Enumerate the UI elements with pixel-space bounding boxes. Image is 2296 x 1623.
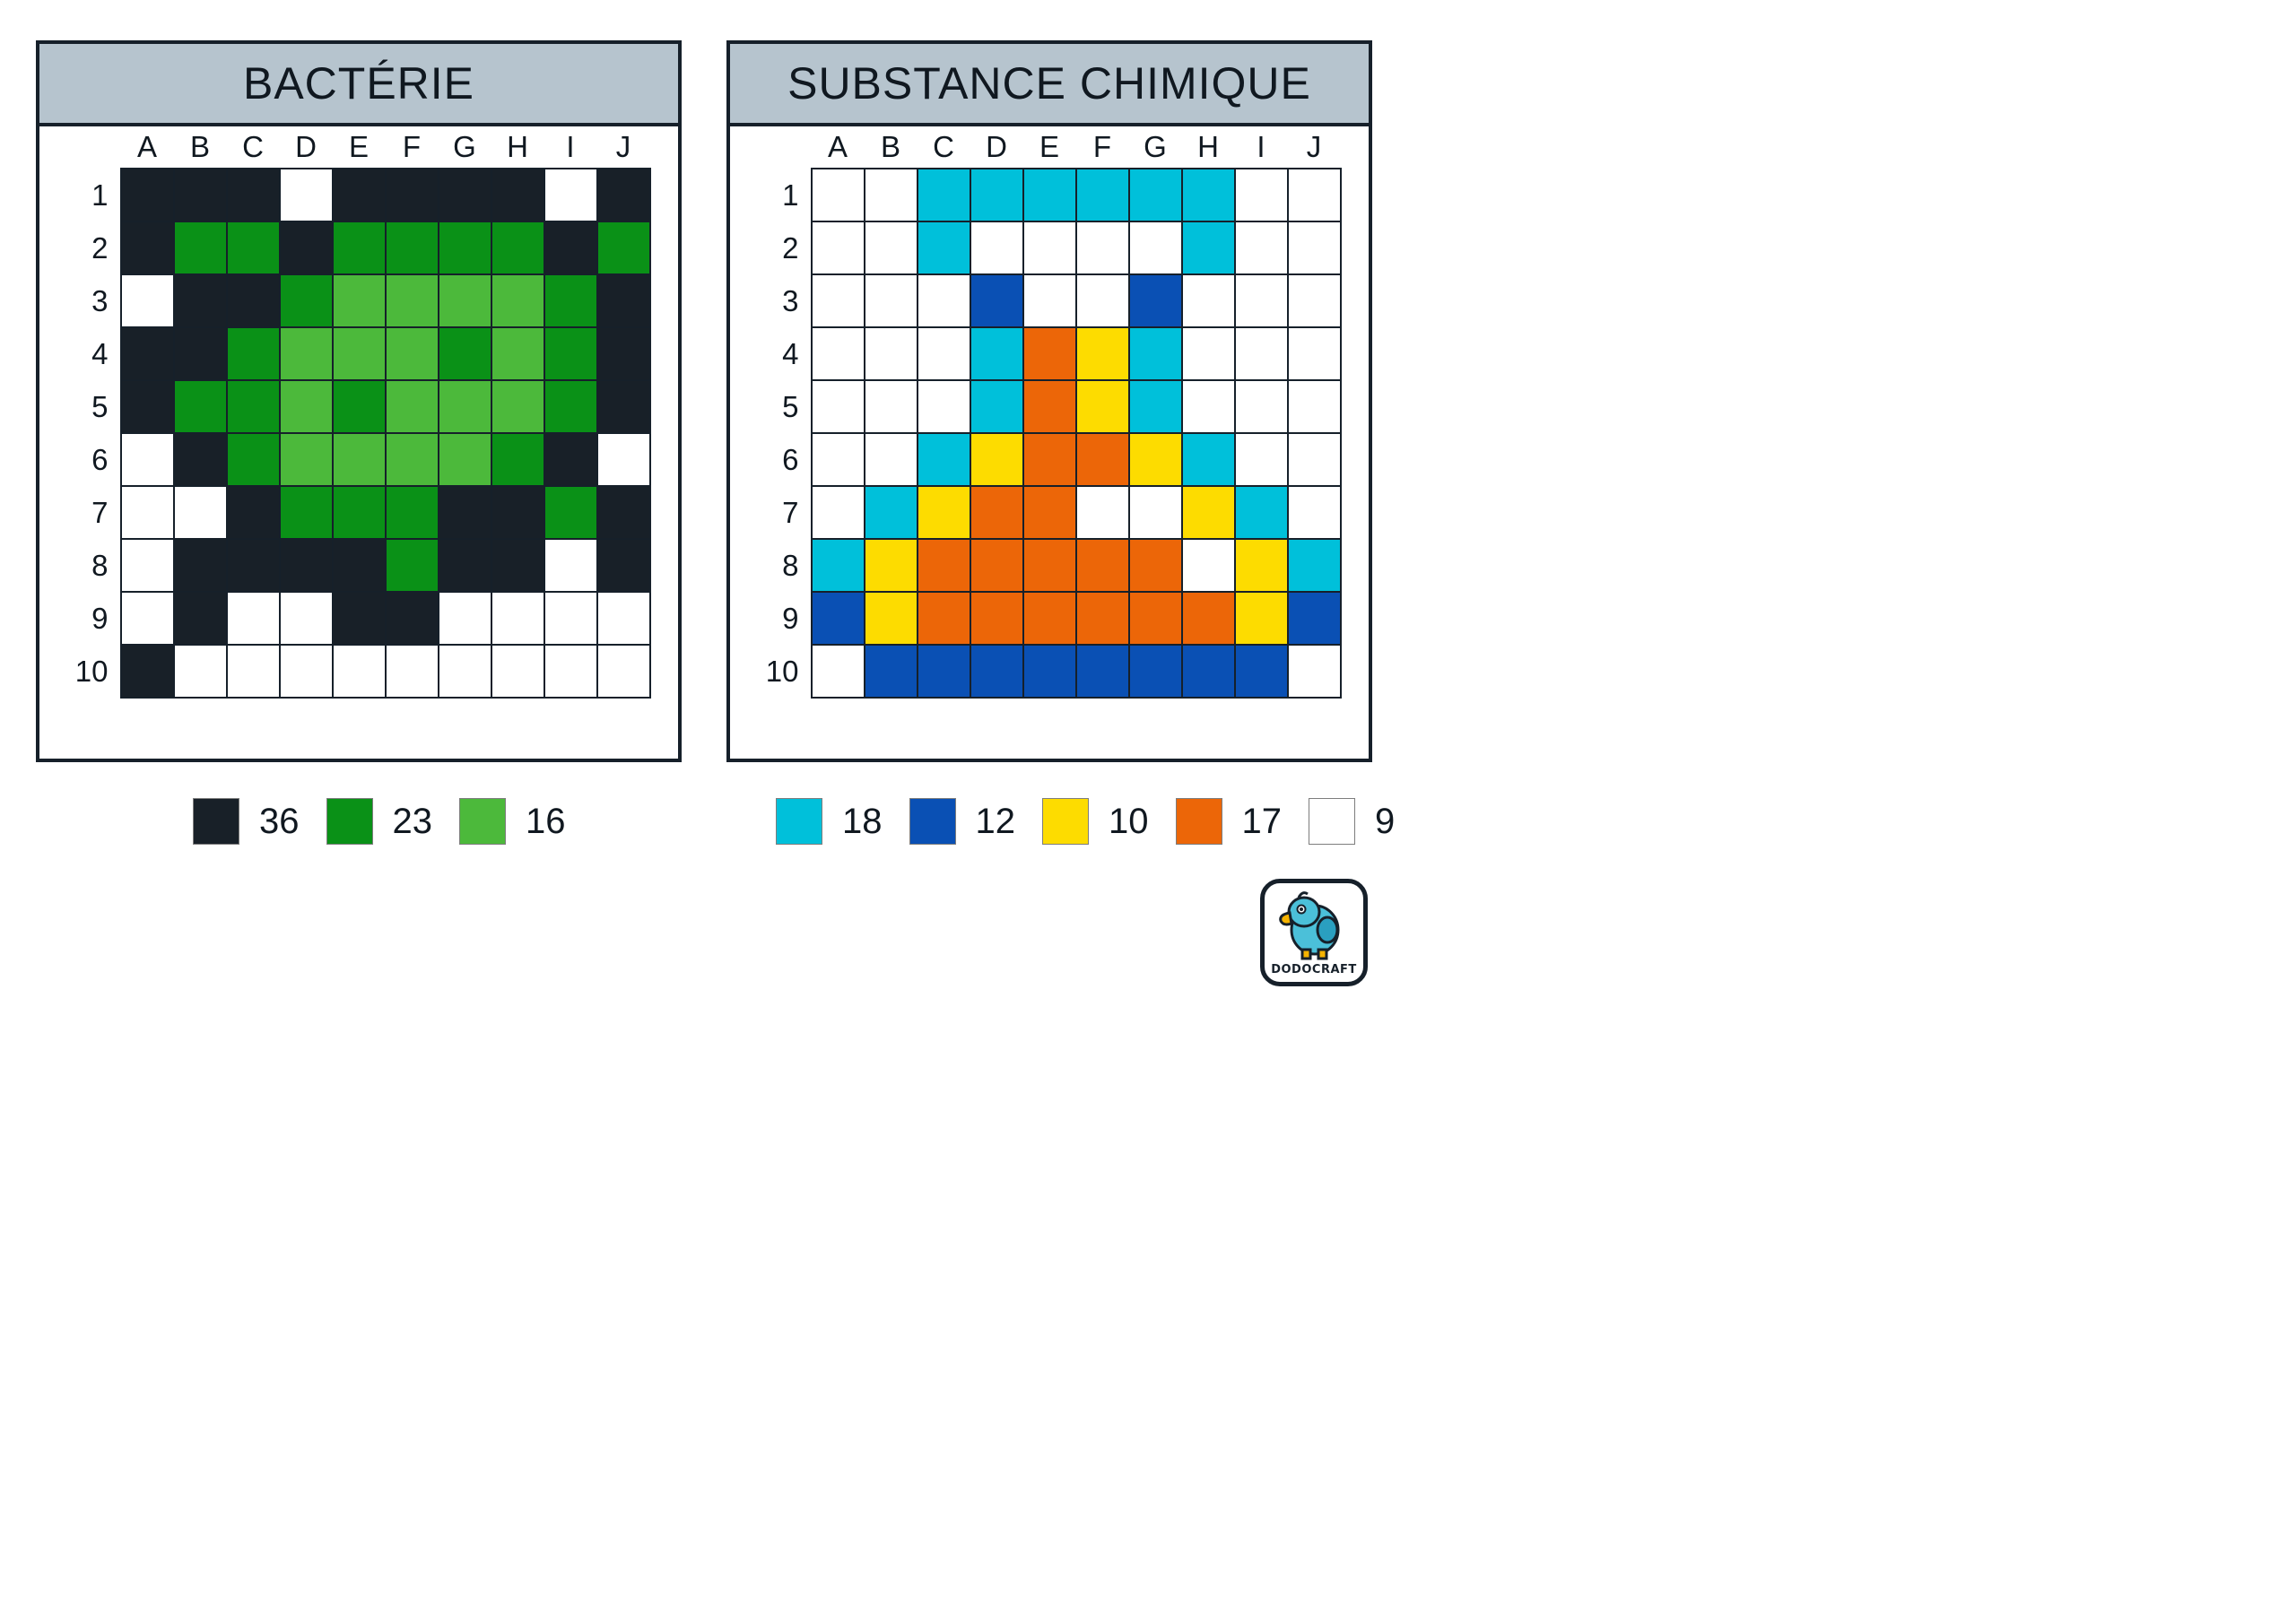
- grid-cell-d6[interactable]: [970, 433, 1023, 486]
- grid-cell-a3[interactable]: [121, 274, 174, 327]
- grid-cell-i9[interactable]: [544, 592, 597, 645]
- grid-cell-g10[interactable]: [439, 645, 491, 698]
- grid-cell-f2[interactable]: [386, 221, 439, 274]
- grid-cell-a10[interactable]: [812, 645, 865, 698]
- row-header-4: 4: [758, 327, 812, 380]
- legend-item: 12: [909, 798, 1020, 845]
- row-header-5: 5: [758, 380, 812, 433]
- grid-cell-i6[interactable]: [1235, 433, 1288, 486]
- grid-cell-i5[interactable]: [544, 380, 597, 433]
- grid-cell-e9[interactable]: [1023, 592, 1076, 645]
- grid-cell-i1[interactable]: [1235, 169, 1288, 221]
- legend-color-swatch: [909, 798, 956, 845]
- grid-cell-b7[interactable]: [865, 486, 918, 539]
- grid-row: 9: [758, 592, 1341, 645]
- row-header-10: 10: [67, 645, 121, 698]
- grid-cell-h4[interactable]: [491, 327, 544, 380]
- grid-cell-h6[interactable]: [491, 433, 544, 486]
- grid-cell-h3[interactable]: [491, 274, 544, 327]
- grid-row: 8: [67, 539, 650, 592]
- legend-color-swatch: [1042, 798, 1089, 845]
- grid-cell-a10[interactable]: [121, 645, 174, 698]
- row-header-4: 4: [67, 327, 121, 380]
- grid-cell-g5[interactable]: [439, 380, 491, 433]
- row-header-5: 5: [67, 380, 121, 433]
- grid-cell-i5[interactable]: [1235, 380, 1288, 433]
- grid-cell-c10[interactable]: [227, 645, 280, 698]
- legend-item: 36: [193, 798, 303, 845]
- grid-cell-a8[interactable]: [121, 539, 174, 592]
- grid-cell-g6[interactable]: [1129, 433, 1182, 486]
- grid-cell-f2[interactable]: [1076, 221, 1129, 274]
- grid-cell-h6[interactable]: [1182, 433, 1235, 486]
- grid-cell-e9[interactable]: [333, 592, 386, 645]
- grid-cell-i8[interactable]: [1235, 539, 1288, 592]
- row-header-8: 8: [67, 539, 121, 592]
- column-header-h: H: [491, 126, 544, 169]
- grid-cell-a3[interactable]: [812, 274, 865, 327]
- grid-cell-h2[interactable]: [491, 221, 544, 274]
- grid-cell-e3[interactable]: [1023, 274, 1076, 327]
- legend-substance-chimique: 181210179: [776, 798, 1422, 845]
- grid-cell-f3[interactable]: [386, 274, 439, 327]
- grid-cell-b5[interactable]: [865, 380, 918, 433]
- grid-cell-j10[interactable]: [1288, 645, 1341, 698]
- grid-cell-j5[interactable]: [597, 380, 650, 433]
- grid-cell-e4[interactable]: [333, 327, 386, 380]
- grid-cell-b8[interactable]: [174, 539, 227, 592]
- grid-cell-d2[interactable]: [280, 221, 333, 274]
- grid-cell-f8[interactable]: [386, 539, 439, 592]
- row-header-9: 9: [67, 592, 121, 645]
- grid-cell-a7[interactable]: [812, 486, 865, 539]
- grid-cell-f10[interactable]: [386, 645, 439, 698]
- grid-cell-d9[interactable]: [970, 592, 1023, 645]
- grid-cell-g10[interactable]: [1129, 645, 1182, 698]
- grid-cell-a5[interactable]: [121, 380, 174, 433]
- grid-cell-j8[interactable]: [1288, 539, 1341, 592]
- grid-cell-d9[interactable]: [280, 592, 333, 645]
- grid-cell-d10[interactable]: [970, 645, 1023, 698]
- grid-cell-j4[interactable]: [597, 327, 650, 380]
- grid-row: 6: [758, 433, 1341, 486]
- grid-cell-d3[interactable]: [970, 274, 1023, 327]
- grid-cell-b10[interactable]: [865, 645, 918, 698]
- grid-row: 4: [758, 327, 1341, 380]
- grid-cell-a4[interactable]: [121, 327, 174, 380]
- grid-row: 8: [758, 539, 1341, 592]
- grid-cell-c2[interactable]: [227, 221, 280, 274]
- grid-cell-a2[interactable]: [121, 221, 174, 274]
- grid-cell-h1[interactable]: [491, 169, 544, 221]
- grid-cell-b9[interactable]: [865, 592, 918, 645]
- grid-row: 3: [67, 274, 650, 327]
- grid-cell-c5[interactable]: [227, 380, 280, 433]
- grid-cell-c9[interactable]: [918, 592, 970, 645]
- row-header-1: 1: [67, 169, 121, 221]
- column-header-f: F: [386, 126, 439, 169]
- grid-row: 2: [758, 221, 1341, 274]
- grid-cell-d5[interactable]: [280, 380, 333, 433]
- grid-cell-j1[interactable]: [1288, 169, 1341, 221]
- grid-cell-j6[interactable]: [597, 433, 650, 486]
- grid-cell-i1[interactable]: [544, 169, 597, 221]
- grid-cell-a2[interactable]: [812, 221, 865, 274]
- legend-label: 17: [1242, 802, 1283, 842]
- grid-cell-a4[interactable]: [812, 327, 865, 380]
- grid-row: 7: [758, 486, 1341, 539]
- column-header-c: C: [918, 126, 970, 169]
- legend-color-swatch: [326, 798, 373, 845]
- grid-cell-b3[interactable]: [865, 274, 918, 327]
- board-bacterie: BACTÉRIE ABCDEFGHIJ12345678910: [36, 40, 682, 762]
- grid-cell-f6[interactable]: [1076, 433, 1129, 486]
- grid-cell-i3[interactable]: [544, 274, 597, 327]
- grid-cell-i9[interactable]: [1235, 592, 1288, 645]
- logo-brand-text: DODOCRAFT: [1265, 963, 1363, 976]
- legend-item: 16: [459, 798, 570, 845]
- row-header-8: 8: [758, 539, 812, 592]
- grid-cell-e1[interactable]: [1023, 169, 1076, 221]
- grid-cell-a8[interactable]: [812, 539, 865, 592]
- row-header-2: 2: [758, 221, 812, 274]
- grid-cell-c4[interactable]: [227, 327, 280, 380]
- grid-cell-c9[interactable]: [227, 592, 280, 645]
- legend-bacterie: 362316: [193, 798, 593, 845]
- grid-cell-b7[interactable]: [174, 486, 227, 539]
- grid-cell-h8[interactable]: [491, 539, 544, 592]
- grid-cell-b1[interactable]: [865, 169, 918, 221]
- grid-cell-i7[interactable]: [1235, 486, 1288, 539]
- grid-cell-a9[interactable]: [812, 592, 865, 645]
- grid-cell-j9[interactable]: [1288, 592, 1341, 645]
- legend-color-swatch: [1309, 798, 1355, 845]
- grid-row: 5: [758, 380, 1341, 433]
- grid-cell-g7[interactable]: [1129, 486, 1182, 539]
- grid-cell-h7[interactable]: [1182, 486, 1235, 539]
- grid-cell-d1[interactable]: [280, 169, 333, 221]
- grid-cell-b3[interactable]: [174, 274, 227, 327]
- column-header-d: D: [970, 126, 1023, 169]
- dodocraft-logo: DODOCRAFT: [1260, 879, 1368, 986]
- grid-cell-c3[interactable]: [227, 274, 280, 327]
- grid-cell-b9[interactable]: [174, 592, 227, 645]
- grid-cell-g3[interactable]: [439, 274, 491, 327]
- legend-label: 36: [259, 802, 300, 842]
- grid-cell-i10[interactable]: [1235, 645, 1288, 698]
- grid-cell-f4[interactable]: [386, 327, 439, 380]
- grid-row: 10: [67, 645, 650, 698]
- column-header-row: ABCDEFGHIJ: [67, 126, 650, 169]
- grid-cell-f9[interactable]: [1076, 592, 1129, 645]
- column-header-g: G: [439, 126, 491, 169]
- column-header-g: G: [1129, 126, 1182, 169]
- grid-cell-d7[interactable]: [970, 486, 1023, 539]
- grid-cell-g8[interactable]: [439, 539, 491, 592]
- row-header-3: 3: [67, 274, 121, 327]
- grid-cell-a7[interactable]: [121, 486, 174, 539]
- grid-cell-g5[interactable]: [1129, 380, 1182, 433]
- legend-label: 23: [393, 802, 433, 842]
- grid-cell-g4[interactable]: [439, 327, 491, 380]
- grid-cell-b2[interactable]: [865, 221, 918, 274]
- grid-cell-a6[interactable]: [121, 433, 174, 486]
- board-title-bacterie: BACTÉRIE: [39, 44, 678, 126]
- pixel-grid-substance-chimique: ABCDEFGHIJ12345678910: [758, 126, 1342, 699]
- grid-cell-i4[interactable]: [544, 327, 597, 380]
- grid-cell-d8[interactable]: [280, 539, 333, 592]
- grid-cell-b2[interactable]: [174, 221, 227, 274]
- column-header-d: D: [280, 126, 333, 169]
- legend-label: 10: [1109, 802, 1149, 842]
- grid-cell-h8[interactable]: [1182, 539, 1235, 592]
- grid-cell-f7[interactable]: [1076, 486, 1129, 539]
- grid-row: 9: [67, 592, 650, 645]
- grid-cell-d5[interactable]: [970, 380, 1023, 433]
- column-header-b: B: [865, 126, 918, 169]
- grid-cell-e7[interactable]: [333, 486, 386, 539]
- grid-cell-g1[interactable]: [1129, 169, 1182, 221]
- grid-row: 7: [67, 486, 650, 539]
- grid-cell-h4[interactable]: [1182, 327, 1235, 380]
- grid-cell-b8[interactable]: [865, 539, 918, 592]
- row-header-9: 9: [758, 592, 812, 645]
- grid-cell-i7[interactable]: [544, 486, 597, 539]
- column-header-f: F: [1076, 126, 1129, 169]
- grid-cell-j3[interactable]: [1288, 274, 1341, 327]
- legend-color-swatch: [459, 798, 506, 845]
- grid-cell-e10[interactable]: [1023, 645, 1076, 698]
- grid-cell-j2[interactable]: [597, 221, 650, 274]
- grid-cell-f1[interactable]: [386, 169, 439, 221]
- grid-cell-c8[interactable]: [227, 539, 280, 592]
- grid-cell-b4[interactable]: [865, 327, 918, 380]
- column-header-j: J: [597, 126, 650, 169]
- grid-cell-j2[interactable]: [1288, 221, 1341, 274]
- legend-label: 16: [526, 802, 566, 842]
- grid-cell-a5[interactable]: [812, 380, 865, 433]
- grid-cell-j10[interactable]: [597, 645, 650, 698]
- grid-cell-e2[interactable]: [333, 221, 386, 274]
- grid-cell-d1[interactable]: [970, 169, 1023, 221]
- grid-cell-c6[interactable]: [227, 433, 280, 486]
- grid-cell-c10[interactable]: [918, 645, 970, 698]
- grid-cell-c7[interactable]: [227, 486, 280, 539]
- grid-cell-i6[interactable]: [544, 433, 597, 486]
- grid-row: 1: [758, 169, 1341, 221]
- grid-cell-j7[interactable]: [597, 486, 650, 539]
- grid-row: 1: [67, 169, 650, 221]
- grid-corner: [758, 126, 812, 169]
- grid-area-substance-chimique: ABCDEFGHIJ12345678910: [730, 126, 1369, 699]
- grid-cell-d3[interactable]: [280, 274, 333, 327]
- grid-row: 5: [67, 380, 650, 433]
- grid-cell-g6[interactable]: [439, 433, 491, 486]
- grid-cell-b10[interactable]: [174, 645, 227, 698]
- column-header-c: C: [227, 126, 280, 169]
- legend-color-swatch: [1176, 798, 1222, 845]
- column-header-j: J: [1288, 126, 1341, 169]
- grid-cell-g9[interactable]: [439, 592, 491, 645]
- grid-row: 6: [67, 433, 650, 486]
- grid-cell-d4[interactable]: [280, 327, 333, 380]
- grid-cell-g4[interactable]: [1129, 327, 1182, 380]
- legend-color-swatch: [776, 798, 822, 845]
- legend-item: 10: [1042, 798, 1152, 845]
- grid-cell-g1[interactable]: [439, 169, 491, 221]
- grid-cell-e3[interactable]: [333, 274, 386, 327]
- grid-row: 4: [67, 327, 650, 380]
- grid-cell-i2[interactable]: [544, 221, 597, 274]
- grid-cell-c4[interactable]: [918, 327, 970, 380]
- legend-color-swatch: [193, 798, 239, 845]
- grid-cell-c5[interactable]: [918, 380, 970, 433]
- grid-cell-h2[interactable]: [1182, 221, 1235, 274]
- row-header-7: 7: [758, 486, 812, 539]
- grid-cell-d2[interactable]: [970, 221, 1023, 274]
- board-title-substance-chimique: SUBSTANCE CHIMIQUE: [730, 44, 1369, 126]
- grid-cell-c2[interactable]: [918, 221, 970, 274]
- grid-cell-i2[interactable]: [1235, 221, 1288, 274]
- row-header-3: 3: [758, 274, 812, 327]
- legend-item: 17: [1176, 798, 1286, 845]
- row-header-7: 7: [67, 486, 121, 539]
- legend-item: 9: [1309, 798, 1398, 845]
- grid-cell-a9[interactable]: [121, 592, 174, 645]
- grid-cell-g9[interactable]: [1129, 592, 1182, 645]
- grid-cell-j8[interactable]: [597, 539, 650, 592]
- legend-item: 18: [776, 798, 886, 845]
- grid-cell-f1[interactable]: [1076, 169, 1129, 221]
- grid-cell-h5[interactable]: [491, 380, 544, 433]
- grid-cell-b6[interactable]: [865, 433, 918, 486]
- grid-row: 2: [67, 221, 650, 274]
- legend-label: 12: [976, 802, 1016, 842]
- board-substance-chimique: SUBSTANCE CHIMIQUE ABCDEFGHIJ12345678910: [726, 40, 1372, 762]
- grid-cell-d6[interactable]: [280, 433, 333, 486]
- grid-cell-j5[interactable]: [1288, 380, 1341, 433]
- grid-cell-c1[interactable]: [918, 169, 970, 221]
- grid-cell-e7[interactable]: [1023, 486, 1076, 539]
- grid-cell-h3[interactable]: [1182, 274, 1235, 327]
- grid-cell-j3[interactable]: [597, 274, 650, 327]
- grid-cell-j6[interactable]: [1288, 433, 1341, 486]
- row-header-6: 6: [67, 433, 121, 486]
- grid-cell-e8[interactable]: [1023, 539, 1076, 592]
- row-header-1: 1: [758, 169, 812, 221]
- grid-cell-f5[interactable]: [1076, 380, 1129, 433]
- grid-cell-b4[interactable]: [174, 327, 227, 380]
- grid-cell-f9[interactable]: [386, 592, 439, 645]
- grid-cell-b5[interactable]: [174, 380, 227, 433]
- grid-cell-c6[interactable]: [918, 433, 970, 486]
- grid-cell-i3[interactable]: [1235, 274, 1288, 327]
- grid-cell-f3[interactable]: [1076, 274, 1129, 327]
- grid-cell-b6[interactable]: [174, 433, 227, 486]
- grid-cell-j9[interactable]: [597, 592, 650, 645]
- grid-cell-b1[interactable]: [174, 169, 227, 221]
- grid-cell-d10[interactable]: [280, 645, 333, 698]
- column-header-a: A: [121, 126, 174, 169]
- grid-cell-e6[interactable]: [333, 433, 386, 486]
- grid-cell-h9[interactable]: [491, 592, 544, 645]
- grid-cell-a1[interactable]: [812, 169, 865, 221]
- column-header-h: H: [1182, 126, 1235, 169]
- grid-cell-h10[interactable]: [1182, 645, 1235, 698]
- grid-cell-e6[interactable]: [1023, 433, 1076, 486]
- column-header-e: E: [1023, 126, 1076, 169]
- grid-cell-c1[interactable]: [227, 169, 280, 221]
- column-header-a: A: [812, 126, 865, 169]
- grid-cell-a6[interactable]: [812, 433, 865, 486]
- grid-cell-e2[interactable]: [1023, 221, 1076, 274]
- grid-cell-c8[interactable]: [918, 539, 970, 592]
- grid-cell-j1[interactable]: [597, 169, 650, 221]
- row-header-6: 6: [758, 433, 812, 486]
- grid-cell-f7[interactable]: [386, 486, 439, 539]
- grid-cell-f8[interactable]: [1076, 539, 1129, 592]
- grid-cell-d4[interactable]: [970, 327, 1023, 380]
- grid-cell-g7[interactable]: [439, 486, 491, 539]
- grid-cell-g8[interactable]: [1129, 539, 1182, 592]
- grid-cell-c7[interactable]: [918, 486, 970, 539]
- grid-cell-e5[interactable]: [333, 380, 386, 433]
- grid-cell-f10[interactable]: [1076, 645, 1129, 698]
- grid-cell-i4[interactable]: [1235, 327, 1288, 380]
- grid-cell-j7[interactable]: [1288, 486, 1341, 539]
- grid-cell-i10[interactable]: [544, 645, 597, 698]
- grid-area-bacterie: ABCDEFGHIJ12345678910: [39, 126, 678, 699]
- grid-cell-e8[interactable]: [333, 539, 386, 592]
- legend-label: 9: [1375, 802, 1395, 842]
- grid-cell-h7[interactable]: [491, 486, 544, 539]
- grid-cell-d7[interactable]: [280, 486, 333, 539]
- grid-cell-e4[interactable]: [1023, 327, 1076, 380]
- legend-item: 23: [326, 798, 437, 845]
- grid-cell-f4[interactable]: [1076, 327, 1129, 380]
- grid-cell-e5[interactable]: [1023, 380, 1076, 433]
- grid-cell-g3[interactable]: [1129, 274, 1182, 327]
- grid-cell-j4[interactable]: [1288, 327, 1341, 380]
- grid-cell-e1[interactable]: [333, 169, 386, 221]
- grid-cell-g2[interactable]: [439, 221, 491, 274]
- grid-cell-h5[interactable]: [1182, 380, 1235, 433]
- grid-cell-i8[interactable]: [544, 539, 597, 592]
- legend-label: 18: [842, 802, 883, 842]
- column-header-i: I: [1235, 126, 1288, 169]
- grid-cell-h9[interactable]: [1182, 592, 1235, 645]
- column-header-i: I: [544, 126, 597, 169]
- grid-cell-g2[interactable]: [1129, 221, 1182, 274]
- grid-cell-a1[interactable]: [121, 169, 174, 221]
- row-header-10: 10: [758, 645, 812, 698]
- grid-cell-h10[interactable]: [491, 645, 544, 698]
- column-header-b: B: [174, 126, 227, 169]
- pixel-grid-bacterie: ABCDEFGHIJ12345678910: [67, 126, 651, 699]
- grid-cell-h1[interactable]: [1182, 169, 1235, 221]
- column-header-e: E: [333, 126, 386, 169]
- grid-cell-e10[interactable]: [333, 645, 386, 698]
- grid-cell-f5[interactable]: [386, 380, 439, 433]
- row-header-2: 2: [67, 221, 121, 274]
- grid-cell-f6[interactable]: [386, 433, 439, 486]
- grid-corner: [67, 126, 121, 169]
- grid-row: 3: [758, 274, 1341, 327]
- column-header-row: ABCDEFGHIJ: [758, 126, 1341, 169]
- grid-cell-c3[interactable]: [918, 274, 970, 327]
- grid-row: 10: [758, 645, 1341, 698]
- grid-cell-d8[interactable]: [970, 539, 1023, 592]
